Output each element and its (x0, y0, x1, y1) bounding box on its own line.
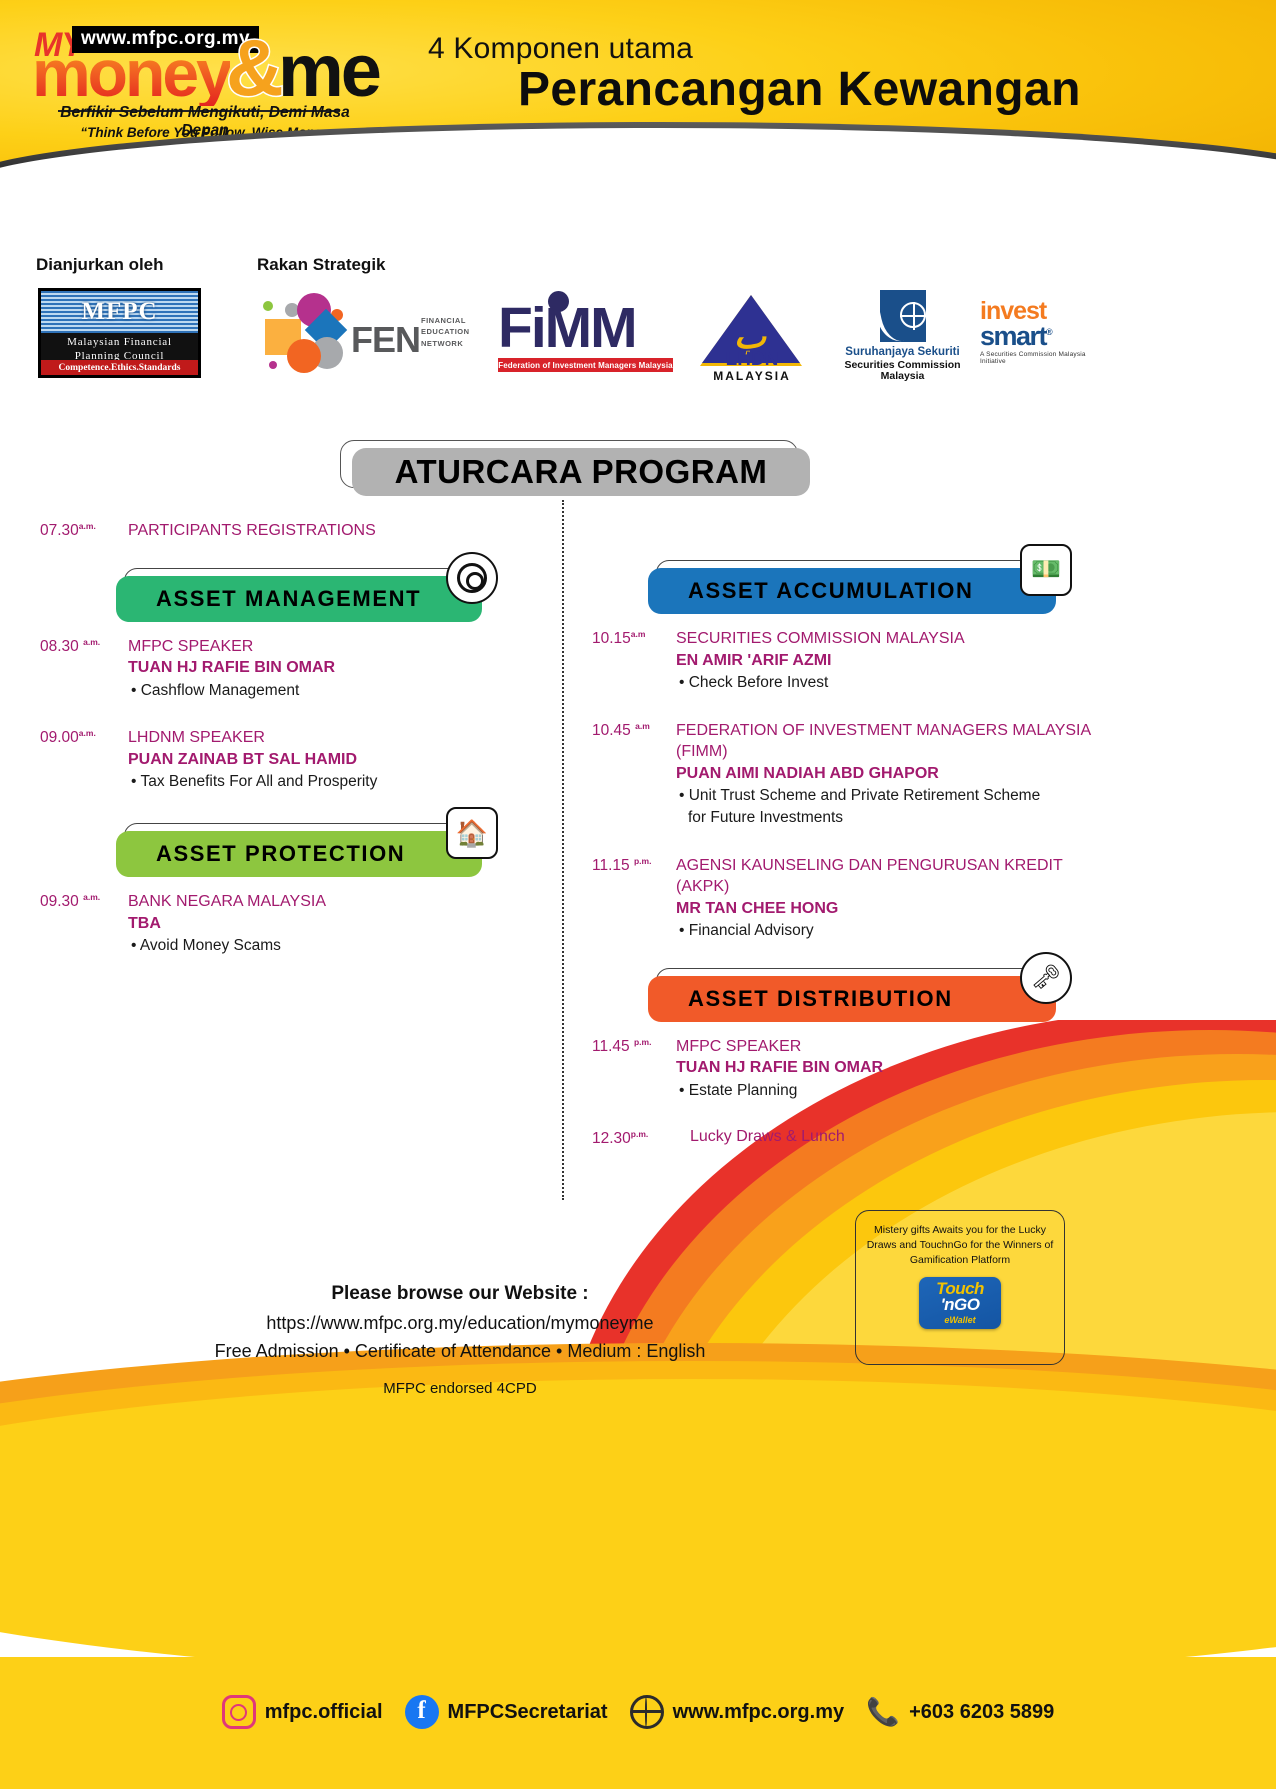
social-website[interactable]: www.mfpc.org.my (630, 1695, 845, 1729)
poster-header: MY www.mfpc.org.my money & me Berfikir S… (0, 0, 1276, 200)
sc-emblem (880, 290, 926, 342)
mfpc-logo: MFPC Malaysian Financial Planning Counci… (38, 288, 201, 378)
lhdn-logo: ب LHDN MALAYSIA (692, 295, 812, 385)
row-organisation: FEDERATION OF INVESTMENT MANAGERS MALAYS… (676, 720, 1112, 763)
registration-label: PARTICIPANTS REGISTRATIONS (128, 520, 550, 542)
section-title: ASSET DISTRIBUTION (688, 986, 953, 1012)
row-topic: • Financial Advisory (676, 920, 1112, 942)
fen-subtext-line3: NETWORK (421, 338, 470, 349)
row-meridiem: a.m. (83, 637, 100, 647)
row-topic: • Unit Trust Scheme and Private Retireme… (676, 785, 1112, 828)
facebook-handle: MFPCSecretariat (448, 1701, 608, 1724)
social-bar: mfpc.official f MFPCSecretariat www.mfpc… (0, 1682, 1276, 1742)
partners-label: Rakan Strategik (257, 255, 386, 275)
row-topic: • Estate Planning (676, 1080, 1112, 1102)
fen-subtext-line2: EDUCATION (421, 326, 470, 337)
row-time: 11.45 p.m. (592, 1036, 676, 1102)
touchngo-logo: Touch 'nGO eWallet (919, 1277, 1001, 1329)
schedule-row: 11.15 p.m. AGENSI KAUNSELING DAN PENGURU… (592, 855, 1112, 942)
section-pill-asset-distribution: ASSET DISTRIBUTION 🗝 (592, 968, 1112, 1018)
social-facebook[interactable]: f MFPCSecretariat (405, 1695, 608, 1729)
touchngo-ewallet-label: eWallet (944, 1315, 975, 1325)
house-shield-icon: 🏠 (446, 807, 498, 859)
registration-time-value: 07.30 (40, 522, 79, 539)
schedule-row: 10.15a.m SECURITIES COMMISSION MALAYSIA … (592, 628, 1112, 694)
investsmart-word2-text: smart (980, 321, 1046, 351)
pill-fill: ASSET ACCUMULATION (648, 568, 1056, 614)
row-organisation: AGENSI KAUNSELING DAN PENGURUSAN KREDIT … (676, 855, 1112, 898)
investsmart-logo: invest smart® A Securities Commission Ma… (980, 300, 1105, 380)
mfpc-name: Malaysian Financial Planning Council (41, 333, 198, 364)
row-body: AGENSI KAUNSELING DAN PENGURUSAN KREDIT … (676, 855, 1112, 942)
program-banner: ATURCARA PROGRAM (340, 440, 810, 496)
mfpc-name-line1: Malaysian Financial (41, 336, 198, 350)
row-body: SECURITIES COMMISSION MALAYSIA EN AMIR '… (676, 628, 1112, 694)
schedule-row: 09.30 a.m. BANK NEGARA MALAYSIA TBA • Av… (40, 891, 550, 957)
target-icon-glyph (457, 563, 487, 593)
row-time: 08.30 a.m. (40, 636, 128, 702)
row-speaker-name: PUAN ZAINAB BT SAL HAMID (128, 749, 550, 771)
section-pill-asset-protection: ASSET PROTECTION 🏠 (40, 823, 550, 873)
program-column-right: ASSET ACCUMULATION 💵 10.15a.m SECURITIES… (592, 560, 1112, 1174)
website-url: www.mfpc.org.my (673, 1701, 845, 1724)
securities-commission-logo: Suruhanjaya Sekuriti Securities Commissi… (830, 290, 975, 385)
footer-website-prompt: Please browse our Website : (120, 1280, 800, 1309)
target-icon (446, 552, 498, 604)
schedule-row: 08.30 a.m. MFPC SPEAKER TUAN HJ RAFIE BI… (40, 636, 550, 702)
row-time-value: 09.30 (40, 893, 79, 910)
program-banner-fill: ATURCARA PROGRAM (352, 448, 810, 496)
facebook-icon[interactable]: f (405, 1695, 439, 1729)
footer-cpd-note: MFPC endorsed 4CPD (120, 1380, 800, 1397)
organiser-label: Dianjurkan oleh (36, 255, 164, 275)
fen-logo: FEN FINANCIAL EDUCATION NETWORK (255, 285, 455, 385)
row-meridiem: a.m. (83, 892, 100, 902)
registration-body: PARTICIPANTS REGISTRATIONS (128, 520, 550, 542)
fen-wordmark: FEN (351, 319, 420, 361)
row-organisation: BANK NEGARA MALAYSIA (128, 891, 550, 913)
phone-number: +603 6203 5899 (909, 1701, 1054, 1724)
row-time-value: 11.45 (592, 1038, 630, 1055)
row-time-value: 09.00 (40, 729, 79, 746)
closing-row: 12.30p.m. Lucky Draws & Lunch (592, 1128, 1112, 1148)
row-meridiem: a.m. (79, 728, 96, 738)
social-instagram[interactable]: mfpc.official (222, 1695, 383, 1729)
fimm-i-dot (548, 291, 569, 312)
fen-subtext-line1: FINANCIAL (421, 315, 470, 326)
footer-admission-info: Free Admission • Certificate of Attendan… (120, 1337, 800, 1366)
row-body: FEDERATION OF INVESTMENT MANAGERS MALAYS… (676, 720, 1112, 829)
row-time-value: 10.45 (592, 722, 631, 739)
row-topic: • Check Before Invest (676, 672, 1112, 694)
row-body: BANK NEGARA MALAYSIA TBA • Avoid Money S… (128, 891, 550, 957)
mfpc-acronym-band: MFPC (41, 291, 198, 333)
section-title: ASSET ACCUMULATION (688, 578, 973, 604)
fen-shape-orange-circle (287, 339, 321, 373)
fen-subtext: FINANCIAL EDUCATION NETWORK (421, 315, 470, 349)
row-speaker-name: PUAN AIMI NADIAH ABD GHAPOR (676, 763, 1112, 785)
section-pill-asset-accumulation: ASSET ACCUMULATION 💵 (592, 560, 1112, 610)
investsmart-subtext: A Securities Commission Malaysia Initiat… (980, 351, 1105, 365)
row-speaker-name: TUAN HJ RAFIE BIN OMAR (128, 657, 550, 679)
row-topic: • Tax Benefits For All and Prosperity (128, 771, 550, 793)
touchngo-line2: 'nGO (941, 1297, 980, 1313)
pill-fill: ASSET PROTECTION (116, 831, 482, 877)
lhdn-subtext: MALAYSIA (692, 369, 812, 383)
footer-info: Please browse our Website : https://www.… (120, 1280, 800, 1397)
row-meridiem: a.m (635, 721, 650, 731)
globe-website-icon[interactable] (630, 1695, 664, 1729)
logo-money-text: money (32, 40, 230, 106)
row-meridiem: a.m (631, 629, 646, 639)
row-time-value: 08.30 (40, 638, 79, 655)
row-topic: • Cashflow Management (128, 680, 550, 702)
closing-meridiem: p.m. (631, 1129, 648, 1139)
schedule-row: 11.45 p.m. MFPC SPEAKER TUAN HJ RAFIE BI… (592, 1036, 1112, 1102)
row-topic-line1: • Unit Trust Scheme and Private Retireme… (679, 787, 1040, 804)
row-time: 10.15a.m (592, 628, 676, 694)
registration-meridiem: a.m. (79, 521, 96, 531)
row-body: MFPC SPEAKER TUAN HJ RAFIE BIN OMAR • Es… (676, 1036, 1112, 1102)
pill-fill: ASSET MANAGEMENT (116, 576, 482, 622)
row-topic: • Avoid Money Scams (128, 935, 550, 957)
lhdn-wordmark: LHDN (692, 349, 812, 371)
closing-body: Lucky Draws & Lunch (676, 1128, 1112, 1148)
row-body: MFPC SPEAKER TUAN HJ RAFIE BIN OMAR • Ca… (128, 636, 550, 702)
row-topic-line2: for Future Investments (679, 807, 1112, 829)
house-shield-icon-glyph: 🏠 (456, 820, 488, 846)
phone-icon[interactable]: 📞 (866, 1695, 900, 1729)
row-organisation: MFPC SPEAKER (676, 1036, 1112, 1058)
key-icon: 🗝 (1020, 952, 1072, 1004)
closing-time-value: 12.30 (592, 1130, 631, 1147)
row-organisation: MFPC SPEAKER (128, 636, 550, 658)
fimm-subtext: Federation of Investment Managers Malays… (498, 358, 673, 372)
investsmart-word2: smart® (980, 324, 1105, 350)
row-time: 11.15 p.m. (592, 855, 676, 942)
row-meridiem: p.m. (634, 1037, 651, 1047)
fen-shape-green-dot (263, 301, 273, 311)
footer-website-url[interactable]: https://www.mfpc.org.my/education/mymone… (120, 1309, 800, 1338)
closing-label: Lucky Draws & Lunch (676, 1128, 1112, 1146)
schedule-row: 10.45 a.m FEDERATION OF INVESTMENT MANAG… (592, 720, 1112, 829)
row-time-value: 10.15 (592, 630, 631, 647)
pill-fill: ASSET DISTRIBUTION (648, 976, 1056, 1022)
money-cards-icon-glyph: 💵 (1031, 558, 1061, 582)
instagram-icon[interactable] (222, 1695, 256, 1729)
program-column-left: 07.30a.m. PARTICIPANTS REGISTRATIONS ASS… (40, 520, 550, 983)
closing-time: 12.30p.m. (592, 1128, 676, 1148)
logo-me-text: me (278, 34, 379, 108)
registration-row: 07.30a.m. PARTICIPANTS REGISTRATIONS (40, 520, 550, 542)
section-title: ASSET MANAGEMENT (156, 586, 421, 612)
program-banner-label: ATURCARA PROGRAM (395, 453, 768, 491)
touchngo-promo-box: Mistery gifts Awaits you for the Lucky D… (855, 1210, 1065, 1365)
row-time: 10.45 a.m (592, 720, 676, 829)
row-meridiem: p.m. (634, 856, 651, 866)
row-speaker-name: EN AMIR 'ARIF AZMI (676, 650, 1112, 672)
logo-ampersand: & (226, 28, 284, 108)
section-pill-asset-management: ASSET MANAGEMENT (40, 568, 550, 618)
sc-country: Malaysia (830, 370, 975, 382)
row-speaker-name: TBA (128, 913, 550, 935)
row-speaker-name: TUAN HJ RAFIE BIN OMAR (676, 1057, 1112, 1079)
row-organisation: SECURITIES COMMISSION MALAYSIA (676, 628, 1112, 650)
section-title: ASSET PROTECTION (156, 841, 405, 867)
row-time-value: 11.15 (592, 857, 630, 874)
row-organisation: LHDNM SPEAKER (128, 727, 550, 749)
registered-mark-icon: ® (1046, 327, 1051, 337)
schedule-row: 09.00a.m. LHDNM SPEAKER PUAN ZAINAB BT S… (40, 727, 550, 793)
header-subtitle: 4 Komponen utama (428, 32, 693, 66)
page-title: Perancangan Kewangan (518, 62, 1081, 117)
key-icon-glyph: 🗝 (1031, 966, 1061, 990)
row-body: LHDNM SPEAKER PUAN ZAINAB BT SAL HAMID •… (128, 727, 550, 793)
row-speaker-name: MR TAN CHEE HONG (676, 898, 1112, 920)
mfpc-tagline: Competence.Ethics.Standards (41, 360, 198, 375)
mfpc-acronym: MFPC (81, 298, 157, 326)
fimm-logo: FiMM Federation of Investment Managers M… (498, 300, 673, 380)
money-cards-icon: 💵 (1020, 544, 1072, 596)
row-time: 09.30 a.m. (40, 891, 128, 957)
social-phone[interactable]: 📞 +603 6203 5899 (866, 1695, 1054, 1729)
fimm-wordmark: FiMM (498, 300, 673, 357)
fen-shape-small-magenta-dot (269, 361, 277, 369)
touchngo-promo-text: Mistery gifts Awaits you for the Lucky D… (866, 1223, 1054, 1269)
row-time: 09.00a.m. (40, 727, 128, 793)
instagram-handle: mfpc.official (265, 1701, 383, 1724)
footer-band-1 (0, 1379, 1276, 1679)
sc-name-malay: Suruhanjaya Sekuriti (830, 346, 975, 358)
registration-time: 07.30a.m. (40, 520, 128, 542)
